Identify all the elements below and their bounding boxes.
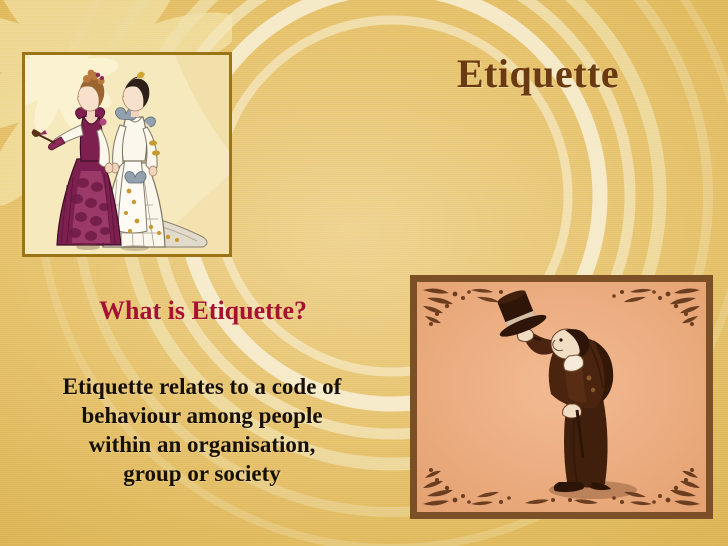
body-line: Etiquette relates to a code of xyxy=(6,372,398,401)
section-subtitle: What is Etiquette? xyxy=(8,296,398,326)
body-line: within an organisation, xyxy=(6,430,398,459)
victorian-ladies-illustration xyxy=(25,55,229,254)
presentation-slide: Etiquette What is Etiquette? Etiquette r… xyxy=(0,0,728,546)
body-line: group or society xyxy=(6,459,398,488)
page-title: Etiquette xyxy=(370,50,706,97)
gentleman-bowing-image-frame xyxy=(410,275,713,519)
body-line: behaviour among people xyxy=(6,401,398,430)
body-text-block: Etiquette relates to a code of behaviour… xyxy=(6,372,398,488)
victorian-ladies-image-frame xyxy=(22,52,232,257)
gentleman-bowing-illustration xyxy=(417,282,706,512)
